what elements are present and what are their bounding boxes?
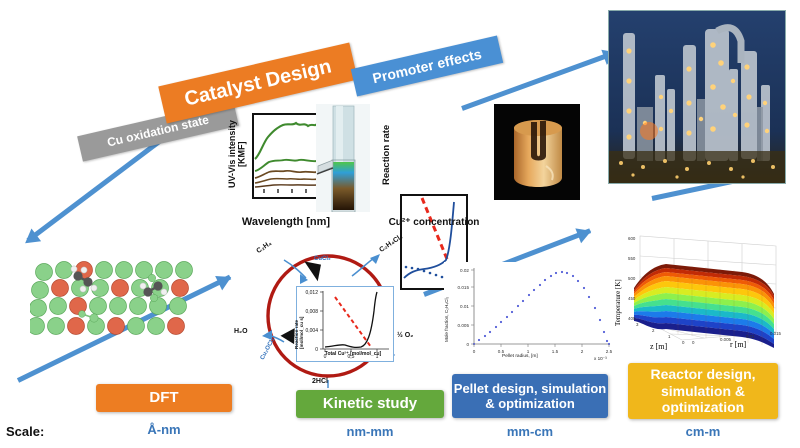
pellet-simulation-chart: 0 0.005 0.01 0.015 0.02 0 0.5 1 1.5 2 2.…: [444, 262, 620, 366]
reaction-rate-y-axis-label: Reaction rate: [381, 112, 397, 198]
kinetic-inset-x-label: Total Cu²⁺ [mol/mol_cu]: [311, 351, 395, 357]
banner-promoter-effects: Promoter effects: [351, 35, 503, 96]
reaction-rate-x-axis-label: Cu²⁺ concentration: [372, 217, 496, 228]
svg-text:2.5: 2.5: [606, 349, 613, 354]
svg-text:0,012: 0,012: [305, 290, 318, 296]
svg-text:0.01: 0.01: [460, 304, 469, 309]
uv-vis-plot-svg: [254, 115, 318, 193]
scale-value-dft: Å-nm: [96, 422, 232, 437]
stage-box-reactor-design[interactable]: Reactor design, simulation & optimizatio…: [628, 363, 778, 419]
svg-text:1.5: 1.5: [552, 349, 559, 354]
pellet-chart-x-exponent: x 10⁻³: [594, 356, 607, 362]
svg-text:0,004: 0,004: [305, 328, 318, 334]
svg-text:0: 0: [473, 349, 476, 354]
uv-vis-flow-cell-photo: [316, 104, 370, 212]
surface-z-axis-label: z [m]: [650, 342, 667, 351]
industrial-plant-photo: [608, 10, 786, 184]
surface-r-axis-label: r [m]: [730, 340, 746, 349]
species-h2o: H₂O: [234, 328, 248, 335]
stage-box-kinetic-study[interactable]: Kinetic study: [296, 390, 444, 418]
svg-text:550: 550: [628, 256, 636, 261]
svg-text:400: 400: [628, 316, 636, 321]
stage-box-pellet-design[interactable]: Pellet design, simulation & optimization: [452, 374, 608, 418]
scale-row-label: Scale:: [6, 424, 44, 439]
dft-surface-slab-model: [30, 248, 200, 346]
svg-text:600: 600: [628, 236, 636, 241]
svg-text:0,008: 0,008: [305, 309, 318, 315]
svg-text:0.005: 0.005: [458, 323, 470, 328]
kinetic-inset-y-label: Reaction rate [mol/mol_cu s]: [295, 293, 305, 349]
kinetic-inset-rate-chart: 0 0,004 0,008 0,012 0 0,5 1 Reaction rat…: [296, 286, 394, 362]
svg-text:2: 2: [581, 349, 584, 354]
svg-text:0.02: 0.02: [460, 268, 469, 273]
stage-box-dft[interactable]: DFT: [96, 384, 232, 412]
catalyst-state-cucl2: CuCl₂: [314, 256, 331, 262]
uv-vis-spectra-chart: [252, 113, 324, 199]
scale-value-reactor: cm-m: [628, 424, 778, 439]
svg-text:500: 500: [628, 276, 636, 281]
uv-vis-y-axis-label: UV-Vis intensity [KMF]: [228, 108, 244, 200]
kinetic-catalytic-cycle: C₂H₄ C₂H₄Cl₂ ½ O₂ H₂O 2HCl CuCl₂ CuCl Cu…: [232, 238, 424, 388]
svg-text:450: 450: [628, 296, 636, 301]
scale-value-pellet: mm-cm: [452, 424, 608, 439]
surface-temperature-axis-label: Temperature [K]: [614, 240, 622, 326]
reactor-temperature-surface-plot: 32 10 0 0.0050.010.015 600550500 450400 …: [626, 222, 796, 358]
catalyst-pellet-photo: [494, 104, 580, 200]
svg-text:0.01: 0.01: [746, 334, 755, 339]
species-half-o2: ½ O₂: [397, 332, 413, 339]
pellet-chart-x-label: Pellet radius, [m]: [502, 354, 538, 359]
pellet-chart-y-label: Mole fraction, C₂H₄Cl₂: [444, 276, 449, 342]
svg-text:0.015: 0.015: [458, 285, 470, 290]
species-2hcl: 2HCl: [312, 378, 328, 385]
scale-value-kinetic: nm-mm: [296, 424, 444, 439]
uv-vis-x-axis-label: Wavelength [nm]: [222, 216, 350, 228]
svg-text:0: 0: [466, 342, 469, 347]
svg-text:0.015: 0.015: [770, 331, 782, 336]
